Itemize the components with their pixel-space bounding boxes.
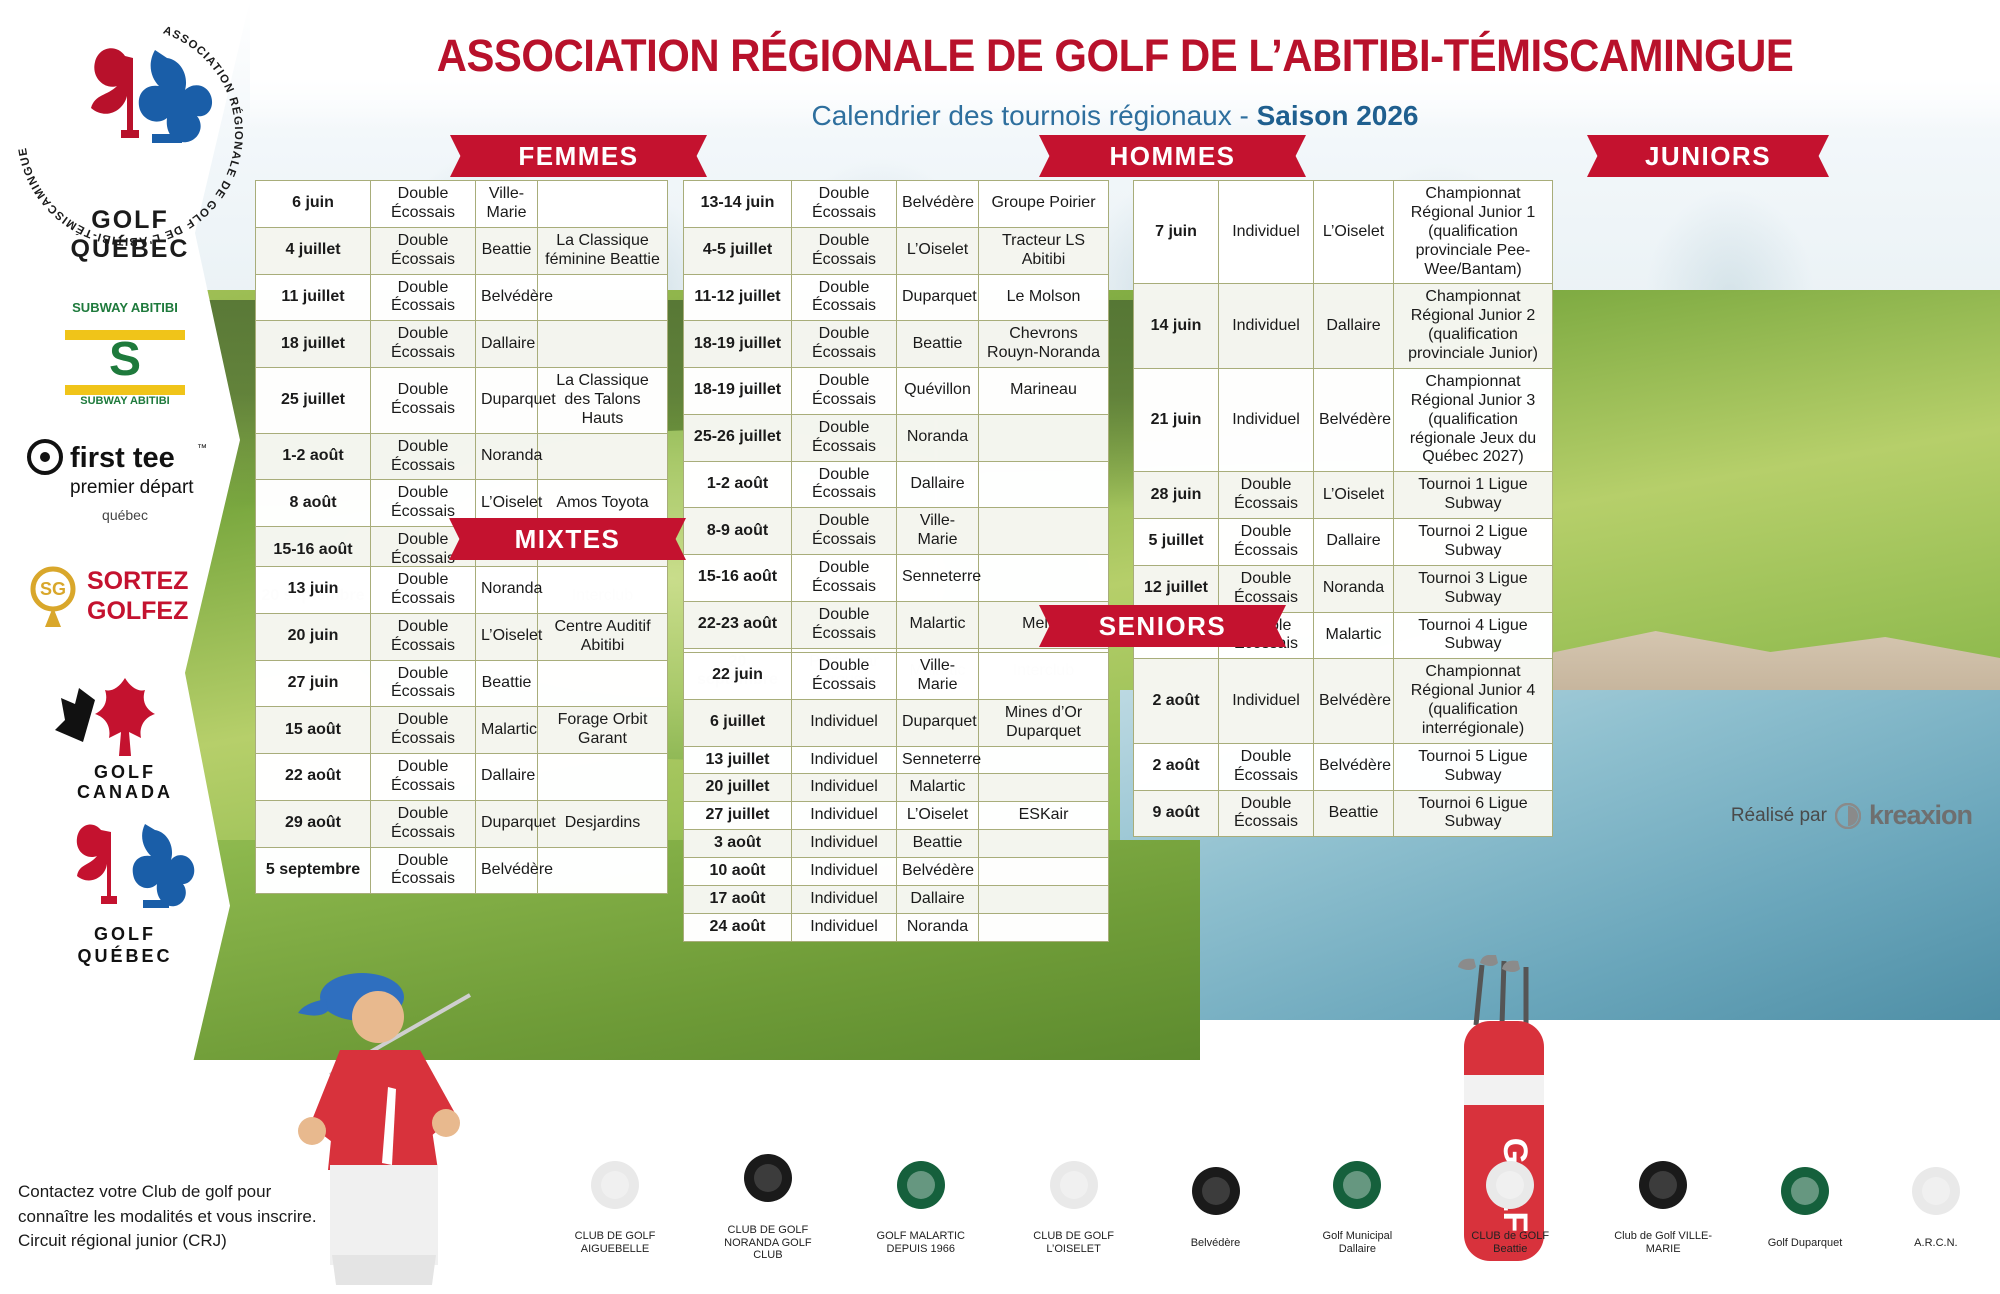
event-club: Malartic <box>897 601 979 648</box>
event-club: Beattie <box>897 321 979 368</box>
event-club: Beattie <box>1314 790 1394 837</box>
table-row: 1-2 aoûtDouble ÉcossaisDallaire <box>684 461 1109 508</box>
event-club: Beattie <box>476 660 538 707</box>
event-sponsor: Tournoi 6 Ligue Subway <box>1394 790 1553 837</box>
club-logo-label: Belvédère <box>1172 1237 1260 1250</box>
credit-brand: kreaxion <box>1869 800 1972 831</box>
event-date: 8-9 août <box>684 508 792 555</box>
event-date: 5 juillet <box>1134 519 1219 566</box>
event-club: Duparquet <box>897 274 979 321</box>
event-sponsor: Championnat Régional Junior 2 (qualifica… <box>1394 284 1553 369</box>
event-sponsor: Le Molson <box>979 274 1109 321</box>
event-format: Individuel <box>792 885 897 913</box>
event-date: 17 août <box>684 885 792 913</box>
event-club: Dallaire <box>476 321 538 368</box>
event-date: 15 août <box>256 707 371 754</box>
table-row: 6 juilletIndividuelDuparquetMines d’Or D… <box>684 699 1109 746</box>
event-date: 1-2 août <box>684 461 792 508</box>
table-row: 10 aoûtIndividuelBelvédère <box>684 858 1109 886</box>
section-banner-seniors: SENIORS <box>1065 605 1260 647</box>
event-club: Duparquet <box>897 699 979 746</box>
event-sponsor <box>979 830 1109 858</box>
event-sponsor <box>979 746 1109 774</box>
event-format: Individuel <box>792 774 897 802</box>
event-format: Individuel <box>1219 181 1314 284</box>
event-club: Dallaire <box>897 885 979 913</box>
event-club: Dallaire <box>476 754 538 801</box>
table-row: 5 septembreDouble ÉcossaisBelvédère <box>256 847 668 894</box>
event-club: L’Oiselet <box>476 613 538 660</box>
event-sponsor <box>538 847 668 894</box>
event-format: Double Écossais <box>792 555 897 602</box>
event-format: Double Écossais <box>371 660 476 707</box>
event-format: Double Écossais <box>1219 519 1314 566</box>
svg-text:premier départ: premier départ <box>70 477 194 498</box>
table-row: 15 aoûtDouble ÉcossaisMalarticForage Orb… <box>256 707 668 754</box>
event-format: Double Écossais <box>792 181 897 228</box>
svg-text:™: ™ <box>197 443 207 454</box>
svg-text:first tee: first tee <box>70 442 175 474</box>
banner-label-hommes: HOMMES <box>1110 141 1236 172</box>
table-row: 18 juilletDouble ÉcossaisDallaire <box>256 321 668 368</box>
table-row: 22 juinDouble ÉcossaisVille-Marie <box>684 653 1109 700</box>
event-date: 24 août <box>684 913 792 941</box>
belvedere-logo: Belvédère <box>1172 1161 1260 1249</box>
section-banner-femmes: FEMMES <box>476 135 681 177</box>
event-date: 20 juin <box>256 613 371 660</box>
event-date: 4 juillet <box>256 227 371 274</box>
footer-note-line1: Contactez votre Club de golf pour <box>18 1180 348 1205</box>
event-date: 20 juillet <box>684 774 792 802</box>
golf-malartic-logo: GOLF MALARTIC DEPUIS 1966 <box>866 1155 976 1256</box>
golf-duparquet-logo: Golf Duparquet <box>1761 1161 1849 1249</box>
event-club: Malartic <box>1314 612 1394 659</box>
table-row: 14 juinIndividuelDallaireChampionnat Rég… <box>1134 284 1553 369</box>
event-date: 15-16 août <box>684 555 792 602</box>
club-logo-label: CLUB de GOLF Beattie <box>1455 1230 1565 1255</box>
event-club: Senneterre <box>897 746 979 774</box>
credit-prefix: Réalisé par <box>1731 805 1827 827</box>
event-sponsor: Chevrons Rouyn-Noranda <box>979 321 1109 368</box>
club-logo-label: Golf Duparquet <box>1761 1237 1849 1250</box>
event-format: Double Écossais <box>792 368 897 415</box>
table-juniors: 7 juinIndividuelL’OiseletChampionnat Rég… <box>1133 180 1553 837</box>
event-club: Ville-Marie <box>897 653 979 700</box>
event-sponsor: Tournoi 1 Ligue Subway <box>1394 472 1553 519</box>
event-sponsor <box>979 461 1109 508</box>
svg-text:québec: québec <box>102 507 148 523</box>
event-club: Belvédère <box>476 847 538 894</box>
event-date: 13-14 juin <box>684 181 792 228</box>
table-row: 7 juinIndividuelL’OiseletChampionnat Rég… <box>1134 181 1553 284</box>
event-club: L’Oiselet <box>897 227 979 274</box>
event-date: 9 août <box>1134 790 1219 837</box>
banner-label-seniors: SENIORS <box>1099 611 1227 642</box>
event-sponsor <box>979 885 1109 913</box>
event-sponsor <box>979 774 1109 802</box>
event-club: Belvédère <box>897 858 979 886</box>
event-sponsor <box>538 321 668 368</box>
event-format: Double Écossais <box>792 653 897 700</box>
event-format: Double Écossais <box>371 274 476 321</box>
club-logo-label: Golf Municipal Dallaire <box>1302 1230 1412 1255</box>
logo-emblem-icon <box>47 38 217 198</box>
table-juniors-body: 7 juinIndividuelL’OiseletChampionnat Rég… <box>1134 181 1553 837</box>
table-row: 4 juilletDouble ÉcossaisBeattieLa Classi… <box>256 227 668 274</box>
svg-text:SG: SG <box>40 579 66 599</box>
club-logo-label: CLUB DE GOLF L’OISELET <box>1019 1230 1129 1255</box>
event-format: Double Écossais <box>792 508 897 555</box>
event-sponsor <box>538 660 668 707</box>
event-date: 11-12 juillet <box>684 274 792 321</box>
golf-municipal-dallaire-logo: Golf Municipal Dallaire <box>1302 1155 1412 1256</box>
club-logos-row: CLUB DE GOLF AIGUEBELLECLUB DE GOLF NORA… <box>560 1140 1980 1270</box>
logo-brand-line2: QUÉBEC <box>5 235 255 264</box>
subtitle-plain: Calendrier des tournois régionaux - <box>811 100 1256 131</box>
svg-text:GOLF: GOLF <box>94 924 156 944</box>
event-format: Individuel <box>1219 284 1314 369</box>
event-date: 13 juillet <box>684 746 792 774</box>
table-row: 13 juinDouble ÉcossaisNoranda <box>256 567 668 614</box>
event-club: Duparquet <box>476 368 538 434</box>
event-date: 7 juin <box>1134 181 1219 284</box>
table-row: 18-19 juilletDouble ÉcossaisBeattieChevr… <box>684 321 1109 368</box>
event-format: Individuel <box>792 858 897 886</box>
club-golf-aiguebelle-logo: CLUB DE GOLF AIGUEBELLE <box>560 1155 670 1256</box>
table-row: 6 juinDouble ÉcossaisVille-Marie <box>256 181 668 228</box>
event-club: Malartic <box>476 707 538 754</box>
event-sponsor: Forage Orbit Garant <box>538 707 668 754</box>
table-row: 17 aoûtIndividuelDallaire <box>684 885 1109 913</box>
table-seniors: 22 juinDouble ÉcossaisVille-Marie6 juill… <box>683 652 1109 942</box>
event-date: 6 juin <box>256 181 371 228</box>
svg-text:GOLF: GOLF <box>94 762 156 782</box>
event-sponsor <box>538 433 668 480</box>
table-row: 27 juinDouble ÉcossaisBeattie <box>256 660 668 707</box>
event-format: Double Écossais <box>792 321 897 368</box>
table-row: 2 aoûtIndividuelBelvédèreChampionnat Rég… <box>1134 659 1553 744</box>
event-format: Double Écossais <box>371 368 476 434</box>
event-format: Individuel <box>1219 659 1314 744</box>
event-club: Noranda <box>897 414 979 461</box>
event-date: 14 juin <box>1134 284 1219 369</box>
event-club: Dallaire <box>1314 284 1394 369</box>
event-date: 22-23 août <box>684 601 792 648</box>
event-club: Beattie <box>897 830 979 858</box>
club-logo-label: A.R.C.N. <box>1892 1237 1980 1250</box>
event-format: Double Écossais <box>792 461 897 508</box>
event-format: Double Écossais <box>371 800 476 847</box>
event-date: 8 août <box>256 480 371 527</box>
event-date: 11 juillet <box>256 274 371 321</box>
event-format: Double Écossais <box>1219 790 1314 837</box>
logo-brand-line1: GOLF <box>5 206 255 235</box>
section-banner-mixtes: MIXTES <box>475 518 660 560</box>
event-date: 29 août <box>256 800 371 847</box>
logo-brand-name: GOLF QUÉBEC <box>5 206 255 264</box>
table-row: 27 juilletIndividuelL’OiseletESKair <box>684 802 1109 830</box>
event-sponsor <box>979 414 1109 461</box>
first-tee-logo: first tee ™ premier départ québec <box>0 425 250 545</box>
credit-kreaxion: Réalisé par kreaxion <box>1731 800 1972 831</box>
event-date: 4-5 juillet <box>684 227 792 274</box>
event-club: Dallaire <box>897 461 979 508</box>
side-sponsor-logos: SUBWAY ABITIBI S SUBWAY ABITIBI first te… <box>0 290 250 980</box>
club-logo-label: Club de Golf VILLE-MARIE <box>1608 1230 1718 1255</box>
event-club: Noranda <box>1314 565 1394 612</box>
event-club: Senneterre <box>897 555 979 602</box>
table-row: 28 juinDouble ÉcossaisL’OiseletTournoi 1… <box>1134 472 1553 519</box>
event-format: Double Écossais <box>371 321 476 368</box>
event-date: 21 juin <box>1134 368 1219 471</box>
event-sponsor: ESKair <box>979 802 1109 830</box>
svg-text:S: S <box>109 333 141 386</box>
subway-abitibi-logo: SUBWAY ABITIBI S SUBWAY ABITIBI <box>0 290 250 415</box>
club-golf-noranda-logo: CLUB DE GOLF NORANDA GOLF CLUB <box>713 1148 823 1262</box>
event-date: 27 juillet <box>684 802 792 830</box>
footer-contact-note: Contactez votre Club de golf pour connaî… <box>18 1180 348 1254</box>
event-sponsor: Tournoi 2 Ligue Subway <box>1394 519 1553 566</box>
event-date: 18-19 juillet <box>684 321 792 368</box>
event-club: Duparquet <box>476 800 538 847</box>
event-date: 22 juin <box>684 653 792 700</box>
event-format: Double Écossais <box>371 181 476 228</box>
event-club: Noranda <box>897 913 979 941</box>
svg-text:SUBWAY ABITIBI: SUBWAY ABITIBI <box>80 395 169 407</box>
event-sponsor: Championnat Régional Junior 1 (qualifica… <box>1394 181 1553 284</box>
event-sponsor: Marineau <box>979 368 1109 415</box>
event-format: Individuel <box>792 830 897 858</box>
event-sponsor: Desjardins <box>538 800 668 847</box>
event-date: 2 août <box>1134 743 1219 790</box>
club-logo-label: CLUB DE GOLF AIGUEBELLE <box>560 1230 670 1255</box>
event-club: Noranda <box>476 433 538 480</box>
event-date: 10 août <box>684 858 792 886</box>
footer-note-line2: connaître les modalités et vous inscrire… <box>18 1205 348 1230</box>
event-sponsor: La Classique des Talons Hauts <box>538 368 668 434</box>
event-sponsor: Tracteur LS Abitibi <box>979 227 1109 274</box>
table-row: 3 aoûtIndividuelBeattie <box>684 830 1109 858</box>
table-row: 8-9 aoûtDouble ÉcossaisVille-Marie <box>684 508 1109 555</box>
svg-text:QUÉBEC: QUÉBEC <box>77 945 172 966</box>
event-format: Double Écossais <box>371 754 476 801</box>
footer-note-line3: Circuit régional junior (CRJ) <box>18 1229 348 1254</box>
table-row: 24 aoûtIndividuelNoranda <box>684 913 1109 941</box>
table-row: 4-5 juilletDouble ÉcossaisL’OiseletTract… <box>684 227 1109 274</box>
table-row: 22 aoûtDouble ÉcossaisDallaire <box>256 754 668 801</box>
event-sponsor: Tournoi 3 Ligue Subway <box>1394 565 1553 612</box>
event-sponsor: Tournoi 4 Ligue Subway <box>1394 612 1553 659</box>
event-club: L’Oiselet <box>1314 181 1394 284</box>
table-hommes: 13-14 juinDouble ÉcossaisBelvédèreGroupe… <box>683 180 1109 695</box>
table-row: 9 aoûtDouble ÉcossaisBeattieTournoi 6 Li… <box>1134 790 1553 837</box>
table-mixtes-body: 13 juinDouble ÉcossaisNoranda20 juinDoub… <box>256 567 668 894</box>
event-date: 1-2 août <box>256 433 371 480</box>
event-format: Double Écossais <box>371 227 476 274</box>
table-mixtes: 13 juinDouble ÉcossaisNoranda20 juinDoub… <box>255 566 668 894</box>
club-golf-oiselet-logo: CLUB DE GOLF L’OISELET <box>1019 1155 1129 1256</box>
event-sponsor: La Classique féminine Beattie <box>538 227 668 274</box>
event-sponsor <box>538 567 668 614</box>
event-format: Individuel <box>1219 368 1314 471</box>
table-row: 25 juilletDouble ÉcossaisDuparquetLa Cla… <box>256 368 668 434</box>
event-format: Double Écossais <box>792 227 897 274</box>
event-date: 22 août <box>256 754 371 801</box>
table-hommes-body: 13-14 juinDouble ÉcossaisBelvédèreGroupe… <box>684 181 1109 695</box>
table-seniors-body: 22 juinDouble ÉcossaisVille-Marie6 juill… <box>684 653 1109 942</box>
event-format: Individuel <box>792 699 897 746</box>
banner-label-mixtes: MIXTES <box>515 524 621 555</box>
arg-abitibi-logo: ASSOCIATION RÉGIONALE DE GOLF DE L'ABITI… <box>5 8 255 273</box>
event-sponsor <box>979 508 1109 555</box>
kreaxion-mark-icon <box>1835 803 1861 829</box>
table-row: 25-26 juilletDouble ÉcossaisNoranda <box>684 414 1109 461</box>
table-row: 13-14 juinDouble ÉcossaisBelvédèreGroupe… <box>684 181 1109 228</box>
event-format: Double Écossais <box>371 847 476 894</box>
event-format: Individuel <box>792 802 897 830</box>
table-row: 1-2 aoûtDouble ÉcossaisNoranda <box>256 433 668 480</box>
event-club: L’Oiselet <box>1314 472 1394 519</box>
club-logo-label: GOLF MALARTIC DEPUIS 1966 <box>866 1230 976 1255</box>
event-date: 18-19 juillet <box>684 368 792 415</box>
event-sponsor <box>538 274 668 321</box>
table-row: 29 aoûtDouble ÉcossaisDuparquetDesjardin… <box>256 800 668 847</box>
event-sponsor: Championnat Régional Junior 4 (qualifica… <box>1394 659 1553 744</box>
event-club: Belvédère <box>1314 659 1394 744</box>
svg-text:CANADA: CANADA <box>77 782 173 800</box>
event-date: 2 août <box>1134 659 1219 744</box>
event-format: Double Écossais <box>792 414 897 461</box>
event-club: Belvédère <box>476 274 538 321</box>
event-club: Ville-Marie <box>897 508 979 555</box>
event-format: Double Écossais <box>792 601 897 648</box>
event-date: 25 juillet <box>256 368 371 434</box>
table-row: 20 juinDouble ÉcossaisL’OiseletCentre Au… <box>256 613 668 660</box>
event-date: 28 juin <box>1134 472 1219 519</box>
event-club: Noranda <box>476 567 538 614</box>
event-club: Belvédère <box>1314 368 1394 471</box>
event-date: 3 août <box>684 830 792 858</box>
table-row: 5 juilletDouble ÉcossaisDallaireTournoi … <box>1134 519 1553 566</box>
club-golf-ville-marie-logo: Club de Golf VILLE-MARIE <box>1608 1155 1718 1256</box>
svg-text:GOLFEZ: GOLFEZ <box>87 597 188 625</box>
event-date: 27 juin <box>256 660 371 707</box>
table-row: 13 juilletIndividuelSenneterre <box>684 746 1109 774</box>
event-format: Double Écossais <box>371 433 476 480</box>
table-row: 2 aoûtDouble ÉcossaisBelvédèreTournoi 5 … <box>1134 743 1553 790</box>
page-subtitle: Calendrier des tournois régionaux - Sais… <box>250 100 1980 132</box>
event-date: 18 juillet <box>256 321 371 368</box>
event-date: 5 septembre <box>256 847 371 894</box>
event-date: 25-26 juillet <box>684 414 792 461</box>
table-row: 11-12 juilletDouble ÉcossaisDuparquetLe … <box>684 274 1109 321</box>
golf-quebec-logo: GOLF QUÉBEC <box>0 810 250 970</box>
svg-text:SORTEZ: SORTEZ <box>87 567 188 595</box>
subtitle-season: Saison 2026 <box>1257 100 1419 131</box>
svg-text:SUBWAY ABITIBI: SUBWAY ABITIBI <box>72 300 178 315</box>
event-format: Double Écossais <box>792 274 897 321</box>
table-row: 15-16 aoûtDouble ÉcossaisSenneterre <box>684 555 1109 602</box>
arcn-logo: A.R.C.N. <box>1892 1161 1980 1249</box>
event-sponsor: Mines d’Or Duparquet <box>979 699 1109 746</box>
table-row: 11 juilletDouble ÉcossaisBelvédère <box>256 274 668 321</box>
golf-canada-logo: GOLF CANADA <box>0 660 250 800</box>
section-banner-juniors: JUNIORS <box>1613 135 1803 177</box>
banner-label-juniors: JUNIORS <box>1645 141 1771 172</box>
event-sponsor <box>538 181 668 228</box>
event-date: 6 juillet <box>684 699 792 746</box>
event-sponsor <box>979 555 1109 602</box>
event-club: L’Oiselet <box>897 802 979 830</box>
event-sponsor <box>979 913 1109 941</box>
section-banner-hommes: HOMMES <box>1065 135 1280 177</box>
event-format: Double Écossais <box>371 567 476 614</box>
event-sponsor: Groupe Poirier <box>979 181 1109 228</box>
event-date: 13 juin <box>256 567 371 614</box>
event-club: Quévillon <box>897 368 979 415</box>
table-row: 20 juilletIndividuelMalartic <box>684 774 1109 802</box>
page-title: ASSOCIATION RÉGIONALE DE GOLF DE L’ABITI… <box>311 30 1920 82</box>
event-club: Malartic <box>897 774 979 802</box>
sortez-golfez-logo: SG SORTEZ GOLFEZ <box>0 555 250 650</box>
event-club: Beattie <box>476 227 538 274</box>
event-format: Individuel <box>792 746 897 774</box>
event-format: Individuel <box>792 913 897 941</box>
event-club: Ville-Marie <box>476 181 538 228</box>
event-sponsor: Tournoi 5 Ligue Subway <box>1394 743 1553 790</box>
event-sponsor <box>538 754 668 801</box>
event-sponsor: Championnat Régional Junior 3 (qualifica… <box>1394 368 1553 471</box>
table-row: 18-19 juilletDouble ÉcossaisQuévillonMar… <box>684 368 1109 415</box>
event-format: Double Écossais <box>1219 472 1314 519</box>
event-format: Double Écossais <box>1219 743 1314 790</box>
club-logo-label: CLUB DE GOLF NORANDA GOLF CLUB <box>713 1224 823 1262</box>
club-golf-beattie-logo: CLUB de GOLF Beattie <box>1455 1155 1565 1256</box>
event-club: Belvédère <box>1314 743 1394 790</box>
event-format: Double Écossais <box>371 707 476 754</box>
event-sponsor <box>979 858 1109 886</box>
table-row: 21 juinIndividuelBelvédèreChampionnat Ré… <box>1134 368 1553 471</box>
event-sponsor: Centre Auditif Abitibi <box>538 613 668 660</box>
event-sponsor <box>979 653 1109 700</box>
event-club: Belvédère <box>897 181 979 228</box>
banner-label-femmes: FEMMES <box>518 141 638 172</box>
event-format: Double Écossais <box>371 613 476 660</box>
event-club: Dallaire <box>1314 519 1394 566</box>
